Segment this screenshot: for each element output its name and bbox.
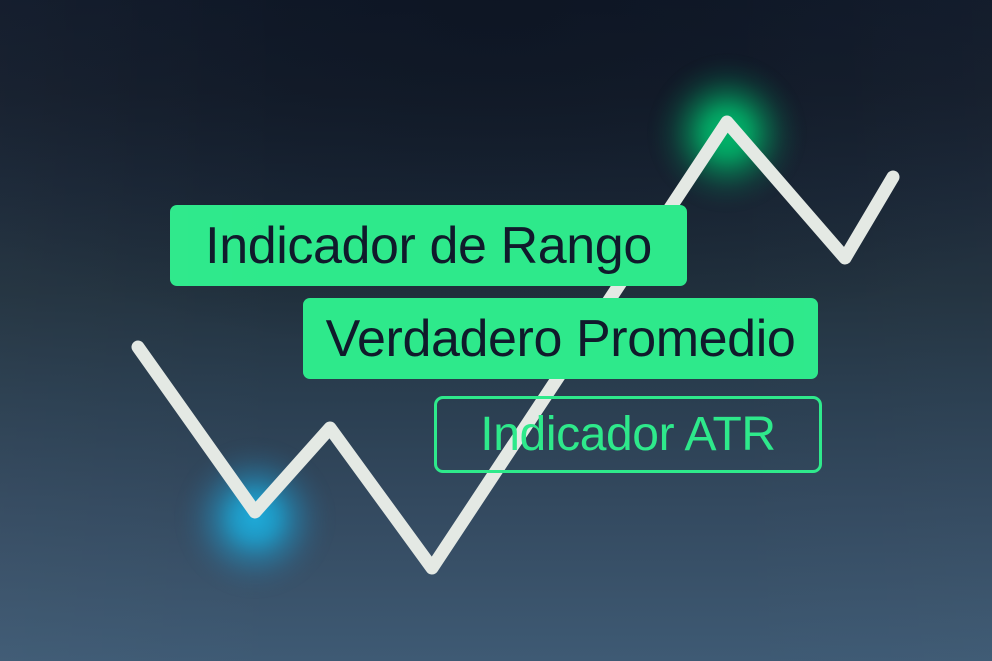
banner-indicador-atr[interactable]: Indicador ATR bbox=[434, 396, 822, 473]
banner-label-promedio: Verdadero Promedio bbox=[326, 309, 796, 369]
banner-indicador-de-rango[interactable]: Indicador de Rango bbox=[170, 205, 687, 286]
banner-verdadero-promedio[interactable]: Verdadero Promedio bbox=[303, 298, 818, 379]
banner-label-rango: Indicador de Rango bbox=[205, 216, 652, 276]
banner-label-atr: Indicador ATR bbox=[480, 407, 775, 462]
poster-canvas: Indicador de Rango Verdadero Promedio In… bbox=[0, 0, 992, 661]
